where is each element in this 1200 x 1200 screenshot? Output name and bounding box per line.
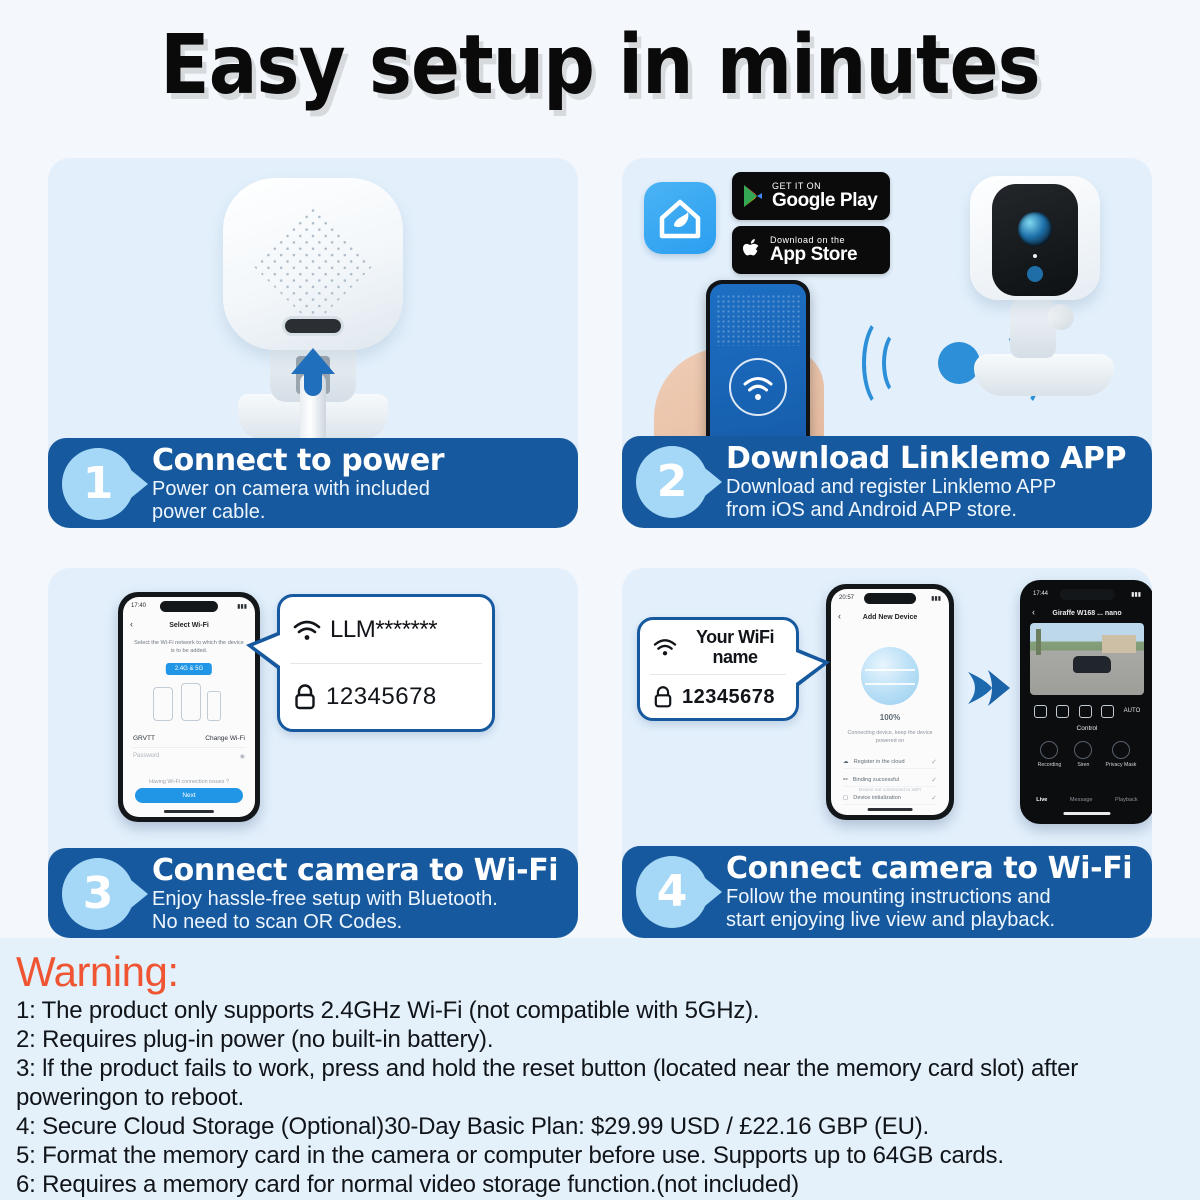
apple-icon <box>742 238 762 262</box>
linklemo-app-icon <box>644 182 716 254</box>
warning-line-3: 3: lf the product fails to work, press a… <box>16 1054 1184 1112</box>
phone-notch <box>864 593 916 604</box>
step-3-caption-bar: 3 Connect camera to Wi-Fi Enjoy hassle-f… <box>48 848 578 938</box>
wifi-password-value: 12345678 <box>326 683 437 711</box>
illustration-phone <box>153 687 173 721</box>
app-store-text: Download on the App Store <box>770 236 857 264</box>
snapshot-icon[interactable] <box>1034 705 1047 718</box>
nav-title: Giraffe W168 ... nano <box>1025 605 1149 621</box>
camera-stand-joint <box>1048 304 1074 330</box>
control-recording[interactable]: Recording <box>1038 741 1062 768</box>
siren-icon <box>1074 741 1092 759</box>
camera-led <box>1033 254 1037 258</box>
wifi-icon <box>652 637 678 657</box>
control-label: Recording <box>1038 762 1062 768</box>
wifi-credentials-card-4: Your WiFi name 12345678 <box>637 617 799 721</box>
check-icon: ✓ <box>931 758 937 766</box>
check-icon: ✓ <box>931 776 937 784</box>
screen-select-wifi: 17:40 ▮▮▮ ‹ Select Wi-Fi Select the Wi-F… <box>123 597 255 817</box>
screen-add-device: 20:57 ▮▮▮ ‹ Add New Device 100% Connecti… <box>831 589 949 815</box>
feed-tree <box>1036 629 1041 655</box>
camera-front-illustration <box>952 172 1142 422</box>
checklist-item: ⚯ Binding successful ✓ <box>843 773 937 787</box>
step-panel-2: GET IT ON Google Play Download on the Ap… <box>622 158 1152 528</box>
wifi-ring <box>729 358 787 416</box>
wifi-credentials-card-3: LLM******* 12345678 <box>277 594 495 732</box>
signal-arc-left-2 <box>862 316 906 410</box>
progress-percent: 100% <box>831 713 949 722</box>
status-icons: ▮▮▮ <box>237 603 247 610</box>
status-time: 17:40 <box>131 603 146 609</box>
step-number-1: 1 <box>62 448 134 520</box>
network-name: GRVTT <box>133 735 155 742</box>
connecting-caption: Connecting device, keep the device power… <box>845 729 935 745</box>
step-4-caption-bar: 4 Connect camera to Wi-Fi Follow the mou… <box>622 846 1152 938</box>
step-panel-1: 1 Connect to power Power on camera with … <box>48 158 578 528</box>
status-icons: ▮▮▮ <box>931 595 941 602</box>
warning-line-4: 4: Secure Cloud Storage (Optional)30-Day… <box>16 1112 1184 1141</box>
home-indicator <box>164 810 214 813</box>
step-2-caption-bar: 2 Download Linklemo APP Download and reg… <box>622 436 1152 528</box>
google-play-icon <box>742 184 764 208</box>
google-play-badge[interactable]: GET IT ON Google Play <box>732 172 890 220</box>
checklist-label: Binding successful <box>853 777 899 783</box>
world-map-graphic <box>716 294 800 346</box>
app-store-big: App Store <box>770 245 857 264</box>
speaker-grille <box>252 204 374 326</box>
google-play-big: Google Play <box>772 191 877 210</box>
page-title: Easy setup in minutes <box>72 18 1128 114</box>
control-label: Privacy Mask <box>1106 762 1137 768</box>
phone-add-device: 20:57 ▮▮▮ ‹ Add New Device 100% Connecti… <box>826 584 954 820</box>
step-number-badge-2: 2 <box>636 446 708 518</box>
step-4-sub-line1: Follow the mounting instructions and <box>726 886 1132 909</box>
volume-icon[interactable] <box>1056 705 1069 718</box>
illustration-router-1 <box>181 683 201 721</box>
step-4-sub-line2: start enjoying live view and playback. <box>726 909 1132 932</box>
wifi-password-value: 12345678 <box>682 686 775 709</box>
live-tool-row: AUTO <box>1029 701 1145 721</box>
tab-message[interactable]: Message <box>1070 797 1093 803</box>
step-3-sub-line1: Enjoy hassle-free setup with Bluetooth. <box>152 888 558 911</box>
camera-lens <box>1018 212 1052 246</box>
wifi-ssid-row: Your WiFi name <box>640 620 796 674</box>
feed-house <box>1102 635 1136 653</box>
camera-rear-body <box>223 178 403 350</box>
step-number-3: 3 <box>62 858 134 930</box>
infographic-page: Easy setup in minutes 1 Connect to power <box>0 0 1200 1200</box>
home-indicator <box>868 808 913 811</box>
step-1-heading: Connect to power <box>152 444 444 478</box>
warning-line-1: 1: The product only supports 2.4GHz Wi-F… <box>16 996 1184 1025</box>
illustration-router-2 <box>207 691 221 721</box>
feed-car <box>1073 656 1111 673</box>
control-siren[interactable]: Siren <box>1074 741 1092 768</box>
step-3-sub-line2: No need to scan OR Codes. <box>152 911 558 934</box>
phone-notch <box>160 601 218 612</box>
network-row[interactable]: GRVTT Change Wi-Fi <box>133 735 245 748</box>
usb-c-port <box>282 316 344 336</box>
step-1-sub-line2: power cable. <box>152 501 444 524</box>
wifi-icon <box>731 360 785 414</box>
select-wifi-description: Select the Wi-Fi network to which the de… <box>133 639 245 655</box>
camera-body <box>970 176 1100 300</box>
step-2-sub-line2: from iOS and Android APP store. <box>726 499 1126 522</box>
step-1-sub-line1: Power on camera with included <box>152 478 444 501</box>
check-icon: ✓ <box>931 794 937 802</box>
bubble-tail-fill <box>253 635 280 666</box>
control-label: Siren <box>1077 762 1089 768</box>
control-section-title: Control <box>1025 725 1149 732</box>
cloud-icon: ☁ <box>843 759 849 765</box>
wifi-ssid-row: LLM******* <box>280 597 492 663</box>
control-privacy-mask[interactable]: Privacy Mask <box>1106 741 1137 768</box>
tab-playback[interactable]: Playback <box>1115 797 1138 803</box>
alarm-icon[interactable] <box>1101 705 1114 718</box>
band-chip: 2.4G & 5G <box>166 663 212 675</box>
status-icons: ▮▮▮ <box>1131 591 1141 598</box>
bottom-tabs: Live Message Playback <box>1025 793 1149 807</box>
phone-select-wifi: 17:40 ▮▮▮ ‹ Select Wi-Fi Select the Wi-F… <box>118 592 260 822</box>
checklist-item: ☁ Register in the cloud ✓ <box>843 755 937 769</box>
camera-stand-base <box>974 354 1114 396</box>
status-time: 17:44 <box>1033 591 1048 597</box>
tab-live[interactable]: Live <box>1036 797 1047 803</box>
phone-notch <box>1060 589 1115 600</box>
phone-live-view: 17:44 ▮▮▮ ‹ Giraffe W168 ... nano <box>1020 580 1152 824</box>
password-field[interactable]: Password <box>133 753 159 760</box>
warning-section: Warning: 1: The product only supports 2.… <box>0 938 1200 1200</box>
wifi-ssid-value: LLM******* <box>330 616 437 644</box>
bubble-tail-fill <box>796 652 823 683</box>
nav-title: Add New Device <box>831 609 949 625</box>
checklist-label: Device initialization <box>853 795 901 801</box>
warning-title: Warning: <box>16 948 1184 996</box>
step-2-text: Download Linklemo APP Download and regis… <box>712 442 1134 522</box>
step-number-4: 4 <box>636 856 708 928</box>
link-icon: ⚯ <box>843 777 848 783</box>
status-time: 20:57 <box>839 595 854 601</box>
wifi-icon <box>292 618 322 642</box>
password-row[interactable]: Password ◉ <box>133 753 245 760</box>
camera-stand-arm <box>1010 296 1056 358</box>
checklist-label: Register in the cloud <box>854 759 905 765</box>
step-3-text: Connect camera to Wi-Fi Enjoy hassle-fre… <box>138 854 566 934</box>
step-number-badge-1: 1 <box>62 448 134 520</box>
step-number-badge-3: 3 <box>62 858 134 930</box>
warning-line-6: 6: Requires a memory card for normal vid… <box>16 1170 1184 1199</box>
checklist-item: ▢ Device initialization ✓ <box>843 791 937 805</box>
step-4-heading: Connect camera to Wi-Fi <box>726 852 1132 886</box>
step-2-sub-line1: Download and register Linklemo APP <box>726 476 1126 499</box>
flow-arrow-icon <box>962 662 1018 714</box>
connect-footer-note: Device not connected to WiFi <box>831 788 949 793</box>
insert-arrow-icon <box>291 348 335 374</box>
warning-line-2: 2: Requires plug-in power (no built-in b… <box>16 1025 1184 1054</box>
camera-live-feed[interactable] <box>1030 623 1144 695</box>
app-store-badge[interactable]: Download on the App Store <box>732 226 890 274</box>
step-number-2: 2 <box>636 446 708 518</box>
lock-icon <box>292 683 318 711</box>
device-icon: ▢ <box>843 795 848 801</box>
change-wifi-link[interactable]: Change Wi-Fi <box>205 735 245 742</box>
wifi-help-hint[interactable]: Having Wi-Fi connection issues ? <box>123 779 255 785</box>
privacy-mask-icon <box>1112 741 1130 759</box>
wifi-ssid-value: Your WiFi name <box>686 627 784 667</box>
step-1-text: Connect to power Power on camera with in… <box>138 444 452 524</box>
recording-icon <box>1040 741 1058 759</box>
step-number-badge-4: 4 <box>636 856 708 928</box>
wifi-password-row: 12345678 <box>640 675 796 719</box>
control-buttons: Recording Siren Privacy Mask <box>1031 741 1143 768</box>
next-button[interactable]: Next <box>135 788 243 803</box>
talk-icon[interactable] <box>1079 705 1092 718</box>
google-play-text: GET IT ON Google Play <box>772 182 877 210</box>
router-illustration <box>145 681 233 725</box>
home-indicator <box>1063 812 1110 815</box>
eye-icon[interactable]: ◉ <box>240 753 245 760</box>
wifi-password-row: 12345678 <box>280 664 492 730</box>
resolution-label[interactable]: AUTO <box>1124 708 1141 714</box>
step-3-heading: Connect camera to Wi-Fi <box>152 854 558 888</box>
step-1-caption-bar: 1 Connect to power Power on camera with … <box>48 438 578 528</box>
step-4-text: Connect camera to Wi-Fi Follow the mount… <box>712 852 1140 932</box>
step-2-heading: Download Linklemo APP <box>726 442 1126 476</box>
connecting-globe-icon <box>861 647 919 705</box>
lock-icon <box>652 685 674 709</box>
camera-face-plate <box>992 184 1078 296</box>
warning-line-5: 5: Format the memory card in the camera … <box>16 1141 1184 1170</box>
screen-live-view: 17:44 ▮▮▮ ‹ Giraffe W168 ... nano <box>1025 585 1149 819</box>
nav-title: Select Wi-Fi <box>123 617 255 633</box>
camera-sensor <box>1027 266 1043 282</box>
